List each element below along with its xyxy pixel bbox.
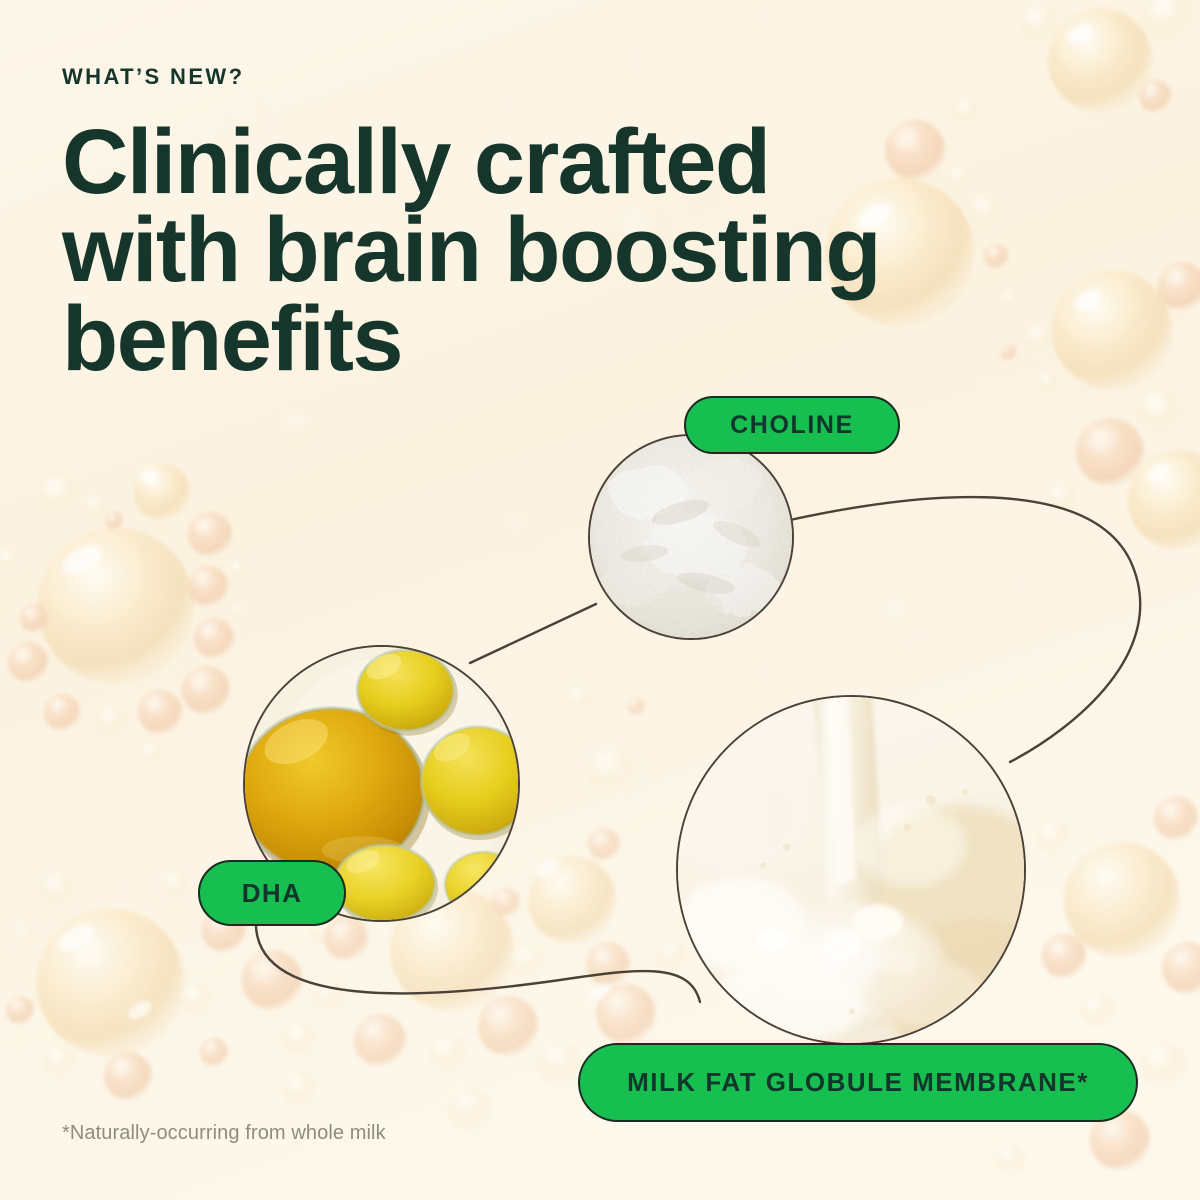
pill-milk-fat-globule-membrane[interactable]: MILK FAT GLOBULE MEMBRANE*: [578, 1043, 1138, 1122]
pill-mfgm-label: MILK FAT GLOBULE MEMBRANE*: [627, 1067, 1089, 1098]
choline-powder-photo: [588, 434, 794, 640]
pill-dha[interactable]: DHA: [198, 860, 346, 926]
ingredient-diagram: CHOLINE DHA MILK FAT GLOBULE MEMBRANE*: [0, 0, 1200, 1200]
pill-dha-label: DHA: [242, 878, 303, 909]
footnote-disclaimer: *Naturally-occurring from whole milk: [62, 1122, 386, 1145]
pill-choline-label: CHOLINE: [730, 411, 854, 440]
promo-graphic: WHAT’S NEW? Clinically crafted with brai…: [0, 0, 1200, 1200]
pill-choline[interactable]: CHOLINE: [684, 396, 900, 454]
milk-pour-photo: [676, 695, 1026, 1045]
ingredient-connector-lines: [0, 0, 1200, 1200]
